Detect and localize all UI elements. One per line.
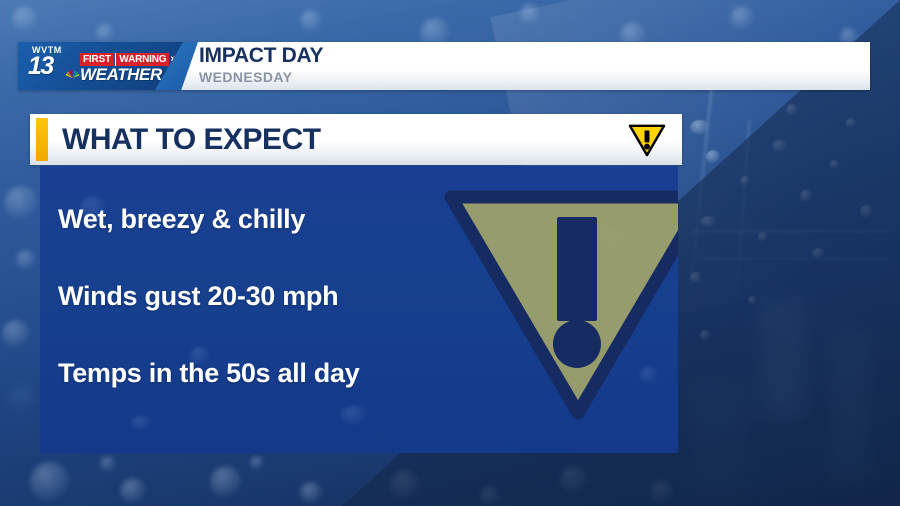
background-bokeh	[30, 462, 70, 502]
background-bokeh	[2, 320, 30, 348]
weather-graphic-stage: WVTM 13 FIRST WARNING	[0, 0, 900, 506]
section-heading: WHAT TO EXPECT	[62, 123, 321, 157]
background-bokeh	[12, 6, 38, 32]
list-item: Temps in the 50s all day	[58, 360, 418, 387]
page-subtitle: WEDNESDAY	[199, 69, 323, 85]
header-title-group: IMPACT DAY WEDNESDAY	[199, 45, 323, 85]
bullet-list: Wet, breezy & chilly Winds gust 20-30 mp…	[58, 206, 418, 387]
background-bokeh	[300, 10, 322, 32]
background-bokeh	[520, 4, 540, 24]
list-item: Winds gust 20-30 mph	[58, 283, 418, 310]
page-title: IMPACT DAY	[199, 45, 323, 67]
background-bokeh	[210, 466, 242, 498]
large-warning-triangle-icon	[443, 189, 678, 421]
warning-triangle-icon	[628, 123, 666, 157]
background-bokeh	[100, 456, 116, 472]
channel-number: 13	[28, 54, 53, 79]
panel-raindrop	[340, 406, 370, 424]
background-bokeh	[96, 24, 114, 42]
background-bokeh	[16, 250, 36, 270]
background-bokeh	[730, 6, 754, 30]
background-bokeh	[300, 482, 322, 504]
weather-word-label: WEATHER	[80, 66, 162, 83]
station-logo: WVTM 13 FIRST WARNING	[18, 42, 183, 90]
header-bar: WVTM 13 FIRST WARNING	[18, 42, 870, 90]
section-title-bar: WHAT TO EXPECT	[30, 114, 682, 165]
background-raindrop	[690, 120, 710, 134]
list-item: Wet, breezy & chilly	[58, 206, 418, 233]
background-raindrop	[706, 150, 720, 164]
background-bokeh	[4, 186, 38, 220]
background-bokeh	[120, 478, 146, 504]
content-panel: Wet, breezy & chilly Winds gust 20-30 mp…	[40, 166, 678, 453]
background-bokeh	[6, 380, 36, 410]
panel-raindrop	[130, 416, 154, 430]
nbc-peacock-icon	[66, 68, 79, 79]
background-bokeh	[250, 456, 264, 470]
yellow-accent-bar	[36, 118, 48, 161]
